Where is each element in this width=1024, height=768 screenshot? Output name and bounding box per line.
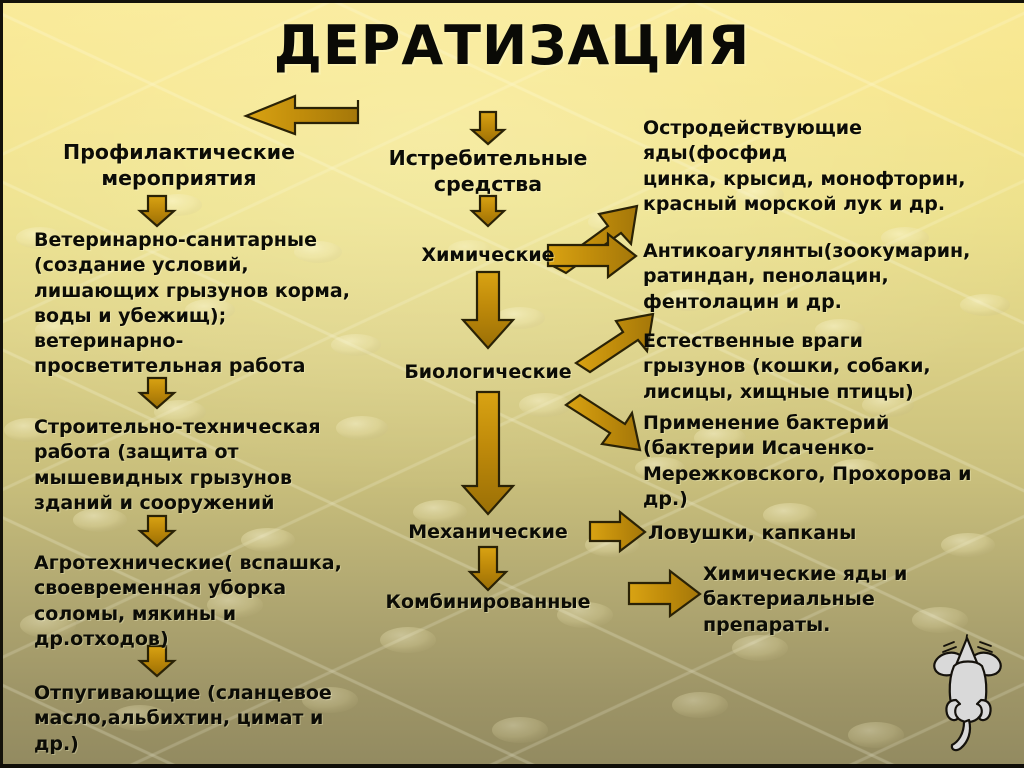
arrow-down-icon-left-2 bbox=[140, 378, 174, 408]
arrow-down-icon-mid-1 bbox=[472, 196, 504, 226]
left-column-heading: Профилактические мероприятия bbox=[34, 140, 324, 192]
right-item-bacteria-application: Применение бактерий (бактерии Исаченко- … bbox=[643, 411, 1023, 512]
middle-column-heading: Истребительные средства bbox=[378, 146, 598, 198]
left-item-repellents: Отпугивающие (сланцевое масло,альбихтин,… bbox=[34, 681, 384, 757]
slide-left-border bbox=[0, 0, 3, 768]
right-item-natural-enemies: Естественные враги грызунов (кошки, соба… bbox=[643, 329, 1023, 405]
slide-bottom-border bbox=[0, 764, 1024, 768]
arrow-down-right-icon-1 bbox=[566, 395, 640, 450]
left-item-agrotechnical: Агротехнические( вспашка, своевременная … bbox=[34, 551, 374, 652]
middle-item-chemical: Химические bbox=[378, 243, 598, 268]
slide-top-border bbox=[0, 0, 1024, 3]
mouse-illustration bbox=[918, 630, 1018, 760]
right-item-chemical-bacterial-preparations: Химические яды и бактериальные препараты… bbox=[703, 562, 1023, 638]
right-item-anticoagulants: Антикоагулянты(зоокумарин, ратиндан, пен… bbox=[643, 239, 1023, 315]
middle-item-combined: Комбинированные bbox=[368, 590, 608, 615]
arrow-down-icon-mid-2 bbox=[463, 272, 513, 348]
middle-item-biological: Биологические bbox=[378, 360, 598, 385]
arrow-down-icon-mid-4 bbox=[470, 547, 506, 590]
middle-item-mechanical: Механические bbox=[378, 520, 598, 545]
arrow-right-icon-3 bbox=[629, 571, 700, 616]
left-item-construction-technical: Строительно-техническая работа (защита о… bbox=[34, 415, 364, 516]
slide-canvas: ДЕРАТИЗАЦИЯ Профилактические мероприятия… bbox=[0, 0, 1024, 768]
right-item-traps: Ловушки, капканы bbox=[648, 521, 1024, 546]
arrow-left-icon bbox=[246, 96, 358, 134]
left-item-veterinary-sanitary: Ветеринарно-санитарные (создание условий… bbox=[34, 228, 364, 380]
arrow-down-icon-1 bbox=[472, 112, 504, 144]
arrow-right-icon-2 bbox=[590, 512, 645, 551]
page-title: ДЕРАТИЗАЦИЯ bbox=[0, 14, 1024, 77]
arrow-down-icon-mid-3 bbox=[463, 392, 513, 514]
arrow-down-icon-left-3 bbox=[140, 516, 174, 546]
arrow-down-icon-left-1 bbox=[140, 196, 174, 226]
right-item-acute-poisons: Остродействующие яды(фосфид цинка, крыси… bbox=[643, 116, 1023, 217]
